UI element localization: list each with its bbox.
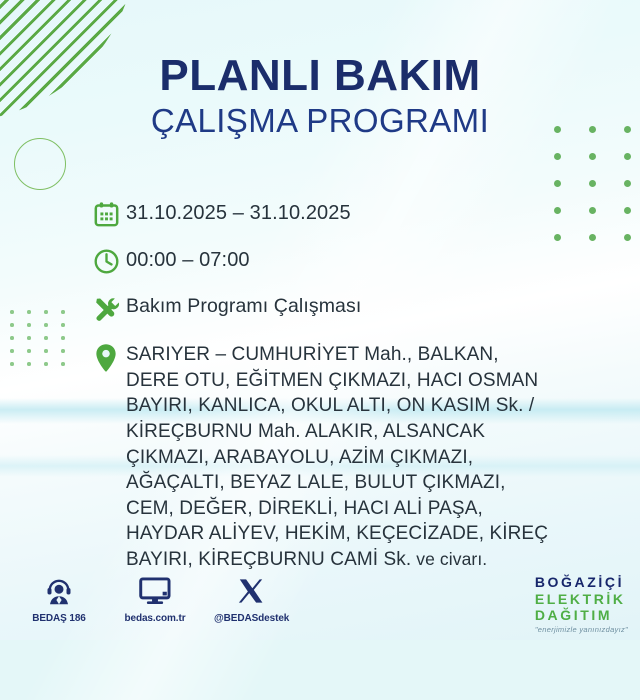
logo-tagline: "enerjimizle yanınızdayız" bbox=[535, 625, 628, 634]
footer-item-website[interactable]: bedas.com.tr bbox=[118, 574, 192, 626]
footer-item-label: @BEDASdestek bbox=[214, 613, 289, 624]
work-type-text: Bakım Programı Çalışması bbox=[126, 294, 361, 320]
page-title: PLANLI BAKIM bbox=[0, 54, 640, 98]
logo-line-2: ELEKTRİK bbox=[535, 591, 628, 608]
logo-line-3: DAĞITIM bbox=[535, 607, 628, 624]
info-row-time: 00:00 – 07:00 bbox=[86, 247, 624, 275]
monitor-website-icon bbox=[118, 574, 192, 608]
location-suffix: ve civarı. bbox=[411, 549, 487, 569]
logo-line-1: BOĞAZİÇİ bbox=[535, 574, 628, 591]
info-row-location: SARIYER – CUMHURİYET Mah., BALKAN, DERE … bbox=[86, 342, 624, 573]
headset-support-icon bbox=[22, 574, 96, 608]
info-row-date: 31.10.2025 – 31.10.2025 bbox=[86, 200, 624, 228]
bedas-logo: BOĞAZİÇİ ELEKTRİK DAĞITIM "enerjimizle y… bbox=[535, 574, 628, 634]
date-range-text: 31.10.2025 – 31.10.2025 bbox=[126, 200, 351, 227]
x-twitter-icon bbox=[214, 574, 288, 608]
location-main: SARIYER – CUMHURİYET Mah., BALKAN, DERE … bbox=[126, 344, 548, 570]
location-text: SARIYER – CUMHURİYET Mah., BALKAN, DERE … bbox=[126, 342, 556, 573]
info-block: 31.10.2025 – 31.10.2025 00:00 – 07:00 Ba… bbox=[86, 200, 624, 573]
page-subtitle: ÇALIŞMA PROGRAMI bbox=[0, 104, 640, 139]
footer-contact-list: BEDAŞ 186 bedas.com.tr @BEDASdestek bbox=[22, 574, 288, 626]
dot-grid-left bbox=[10, 310, 78, 375]
time-range-text: 00:00 – 07:00 bbox=[126, 247, 250, 274]
footer-item-label: BEDAŞ 186 bbox=[32, 613, 86, 624]
tools-icon bbox=[86, 294, 126, 323]
poster-footer: BEDAŞ 186 bedas.com.tr @BEDASdestek bbox=[0, 568, 640, 640]
circle-outline-decoration bbox=[14, 138, 66, 190]
map-pin-icon bbox=[86, 342, 126, 373]
footer-item-social[interactable]: @BEDASdestek bbox=[214, 574, 288, 626]
info-row-work-type: Bakım Programı Çalışması bbox=[86, 294, 624, 323]
clock-icon bbox=[86, 247, 126, 275]
footer-item-phone[interactable]: BEDAŞ 186 bbox=[22, 574, 96, 626]
poster-header: PLANLI BAKIM ÇALIŞMA PROGRAMI bbox=[0, 54, 640, 139]
calendar-icon bbox=[86, 200, 126, 228]
footer-item-label: bedas.com.tr bbox=[124, 613, 185, 624]
